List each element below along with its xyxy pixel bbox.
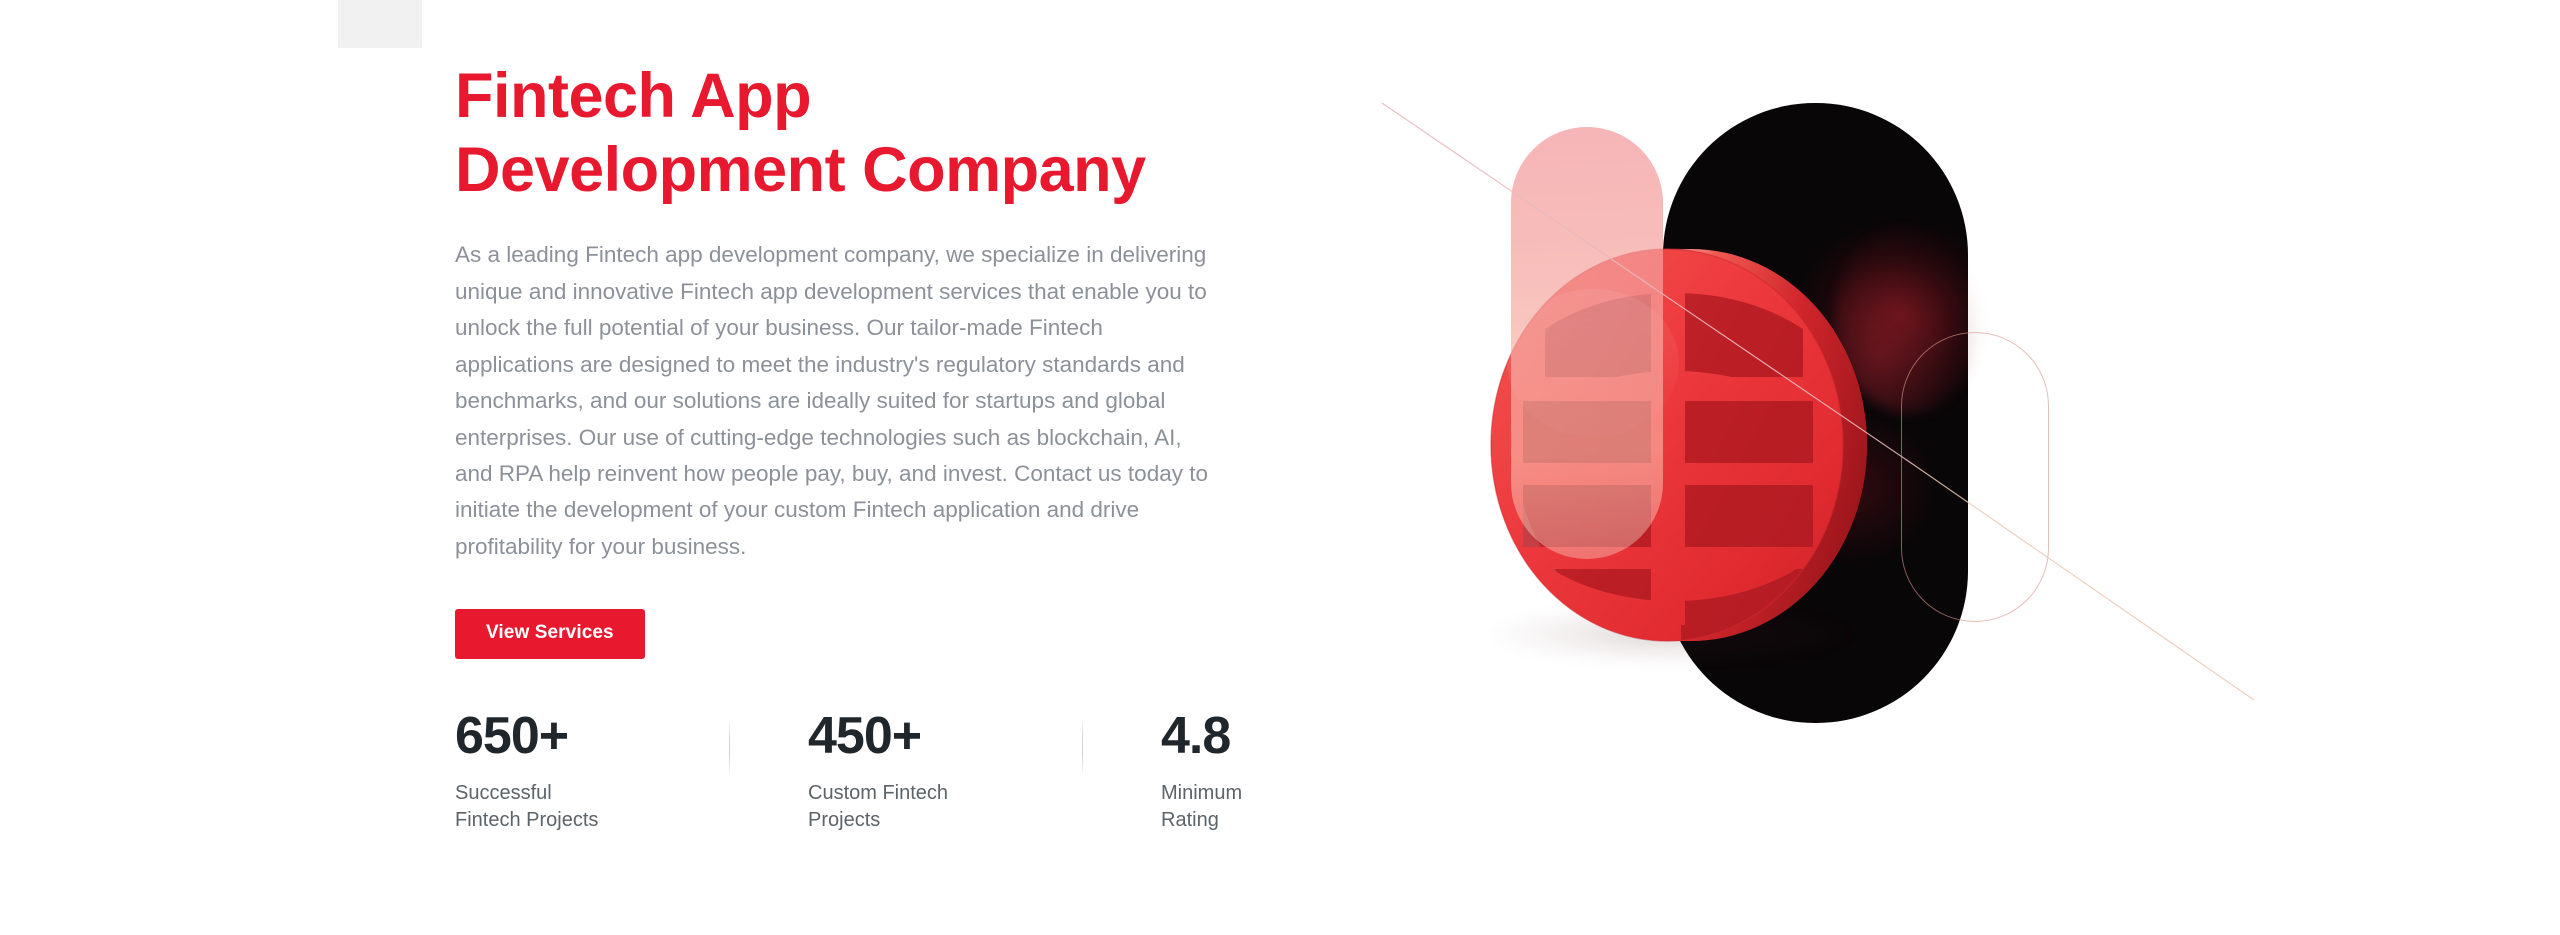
stat-value: 650+ xyxy=(455,710,651,763)
placeholder-box xyxy=(338,0,422,48)
hero-section: Fintech App Development Company As a lea… xyxy=(0,0,2560,935)
outlined-capsule-shape xyxy=(1901,332,2049,622)
view-services-button[interactable]: View Services xyxy=(455,609,645,659)
globe-grid-icon xyxy=(1485,245,1885,645)
stat-label: Custom Fintech Projects xyxy=(808,780,1004,834)
stat-item-minimum-rating: 4.8 Minimum Rating xyxy=(1161,710,1357,834)
hero-description: As a leading Fintech app development com… xyxy=(455,237,1225,565)
stat-divider xyxy=(1082,718,1083,776)
stat-label: Minimum Rating xyxy=(1161,780,1357,834)
stat-label: Successful Fintech Projects xyxy=(455,780,651,834)
stat-value: 4.8 xyxy=(1161,710,1357,763)
fintech-globe-illustration xyxy=(1380,55,2100,775)
cta-row: View Services xyxy=(455,609,645,659)
page-title: Fintech App Development Company xyxy=(455,60,1245,207)
stats-row: 650+ Successful Fintech Projects 450+ Cu… xyxy=(455,710,1357,834)
stat-value: 450+ xyxy=(808,710,1004,763)
hero-text-column: Fintech App Development Company As a lea… xyxy=(455,60,1245,565)
stat-divider xyxy=(729,718,730,776)
stat-item-custom-projects: 450+ Custom Fintech Projects xyxy=(808,710,1004,834)
stat-item-successful-projects: 650+ Successful Fintech Projects xyxy=(455,710,651,834)
